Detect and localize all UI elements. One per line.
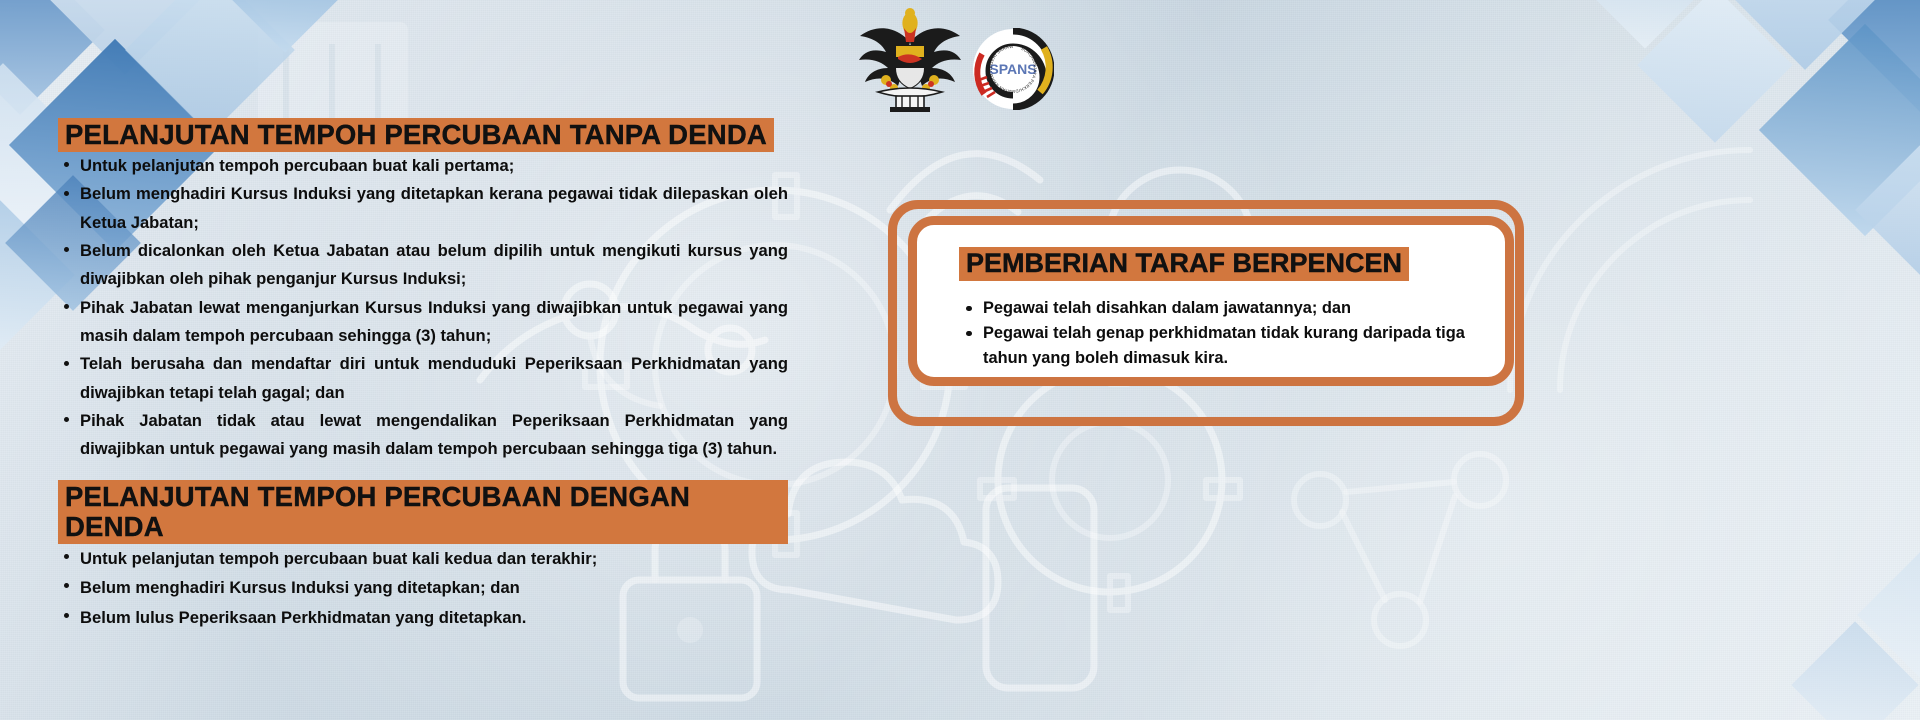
- right-card: PEMBERIAN TARAF BERPENCEN Pegawai telah …: [908, 216, 1514, 386]
- left-content-column: PELANJUTAN TEMPOH PERCUBAAN TANPA DENDA …: [58, 118, 788, 632]
- decor-diamond: [47, 0, 203, 75]
- logo-group: SPANS SURUHANJAYA PERKHIDMATAN AWAM NEGE…: [856, 6, 1096, 114]
- section-one-bullet-list: Untuk pelanjutan tempoh percubaan buat k…: [58, 152, 788, 463]
- list-item: Belum lulus Peperiksaan Perkhidmatan yan…: [58, 603, 788, 633]
- list-item: Belum menghadiri Kursus Induksi yang dit…: [58, 573, 788, 603]
- decor-diamond: [1759, 24, 1920, 236]
- decor-diamond: [207, 0, 363, 53]
- section-two: PELANJUTAN TEMPOH PERCUBAAN DENGAN DENDA…: [58, 480, 788, 632]
- right-card-bullet-list: Pegawai telah disahkan dalam jawatannya;…: [959, 296, 1479, 371]
- right-card-heading: PEMBERIAN TARAF BERPENCEN: [959, 247, 1409, 281]
- section-one: PELANJUTAN TEMPOH PERCUBAAN TANPA DENDA …: [58, 118, 788, 463]
- list-item: Pegawai telah genap perkhidmatan tidak k…: [959, 321, 1479, 371]
- spans-logo-icon: SPANS SURUHANJAYA PERKHIDMATAN AWAM NEGE…: [972, 28, 1054, 110]
- decor-diamond: [1855, 125, 1920, 295]
- decor-diamond: [1828, 0, 1920, 112]
- watermark-network-nodes-icon: [1250, 420, 1570, 700]
- list-item: Pihak Jabatan lewat menganjurkan Kursus …: [58, 294, 788, 351]
- list-item: Telah berusaha dan mendaftar diri untuk …: [58, 350, 788, 407]
- list-item: Untuk pelanjutan tempoh percubaan buat k…: [58, 152, 788, 180]
- decor-diamond: [1581, 0, 1708, 49]
- list-item: Belum menghadiri Kursus Induksi yang dit…: [58, 180, 788, 237]
- sarawak-state-crest-icon: [856, 6, 964, 112]
- decor-diamond: [125, 0, 295, 135]
- list-item: Belum dicalonkan oleh Ketua Jabatan atau…: [58, 237, 788, 294]
- decor-diamond: [1637, 0, 1793, 143]
- list-item: Untuk pelanjutan tempoh percubaan buat k…: [58, 544, 788, 574]
- decor-diamond: [1791, 621, 1918, 720]
- watermark-arc-icon: [1480, 120, 1780, 420]
- section-two-bullet-list: Untuk pelanjutan tempoh percubaan buat k…: [58, 544, 788, 633]
- list-item: Pegawai telah disahkan dalam jawatannya;…: [959, 296, 1479, 321]
- section-one-heading: PELANJUTAN TEMPOH PERCUBAAN TANPA DENDA: [58, 118, 774, 152]
- watermark-mobile-icon: [950, 470, 1130, 710]
- spans-logo-label: SPANS: [989, 61, 1036, 77]
- decor-diamond: [1720, 0, 1890, 70]
- poster-canvas: SPANS SURUHANJAYA PERKHIDMATAN AWAM NEGE…: [0, 0, 1920, 720]
- decor-diamond: [1857, 537, 1920, 693]
- list-item: Pihak Jabatan tidak atau lewat mengendal…: [58, 407, 788, 464]
- section-two-heading: PELANJUTAN TEMPOH PERCUBAAN DENGAN DENDA: [58, 480, 788, 543]
- decor-diamond: [0, 0, 105, 115]
